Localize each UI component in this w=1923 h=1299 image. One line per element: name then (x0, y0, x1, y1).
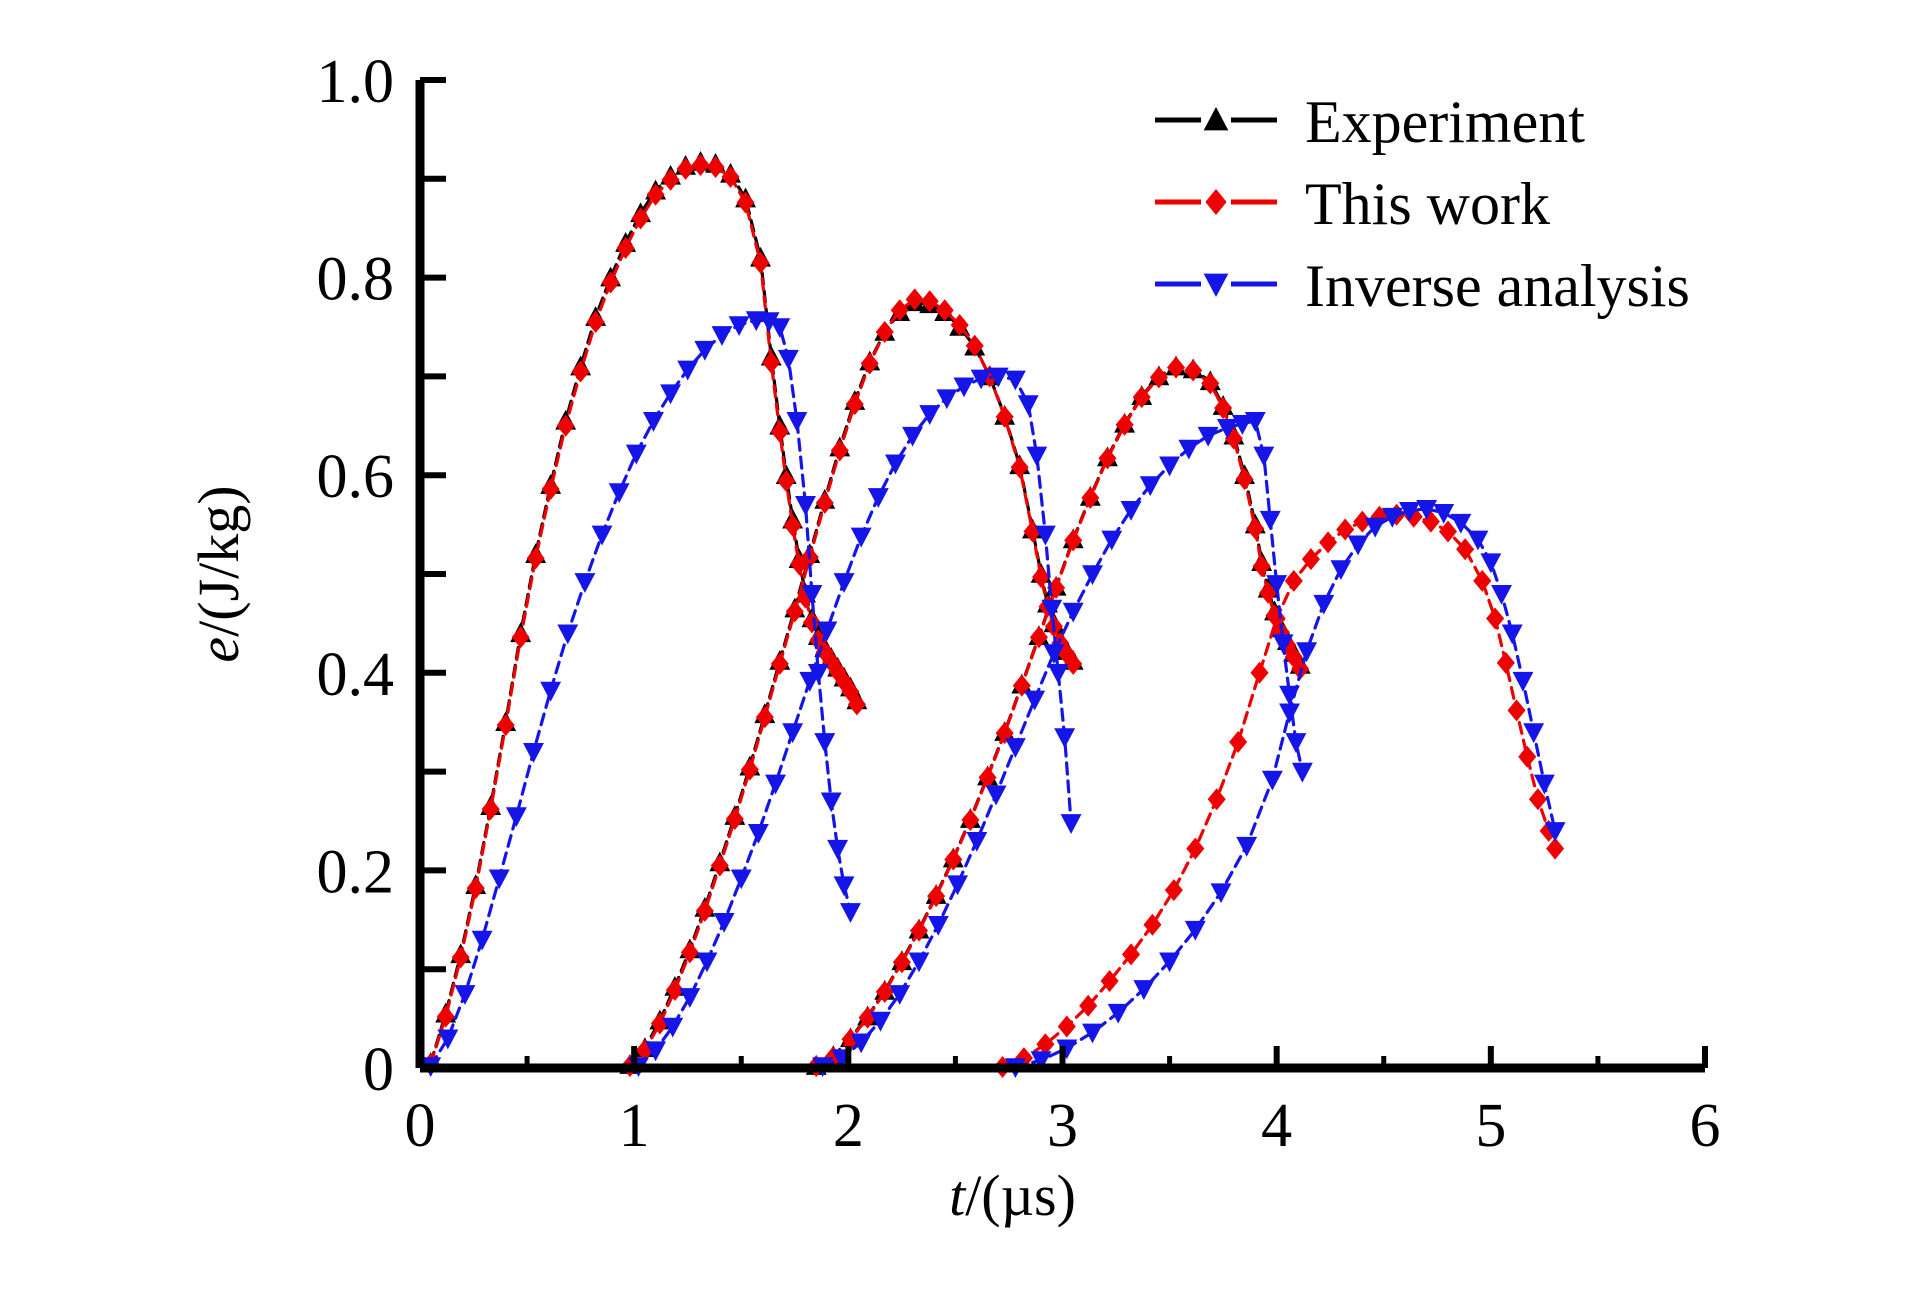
x-tick-label: 4 (1261, 1092, 1292, 1160)
chart-canvas: 012345600.20.40.60.81.0 ExperimentThis w… (0, 0, 1923, 1299)
y-tick-label: 0 (363, 1036, 394, 1104)
y-tick-label: 0.2 (317, 838, 395, 906)
x-tick-label: 0 (405, 1092, 436, 1160)
legend-label: Experiment (1305, 89, 1585, 155)
x-axis-title: t/(µs) (949, 1163, 1076, 1228)
x-tick-label: 3 (1047, 1092, 1078, 1160)
y-tick-label: 1.0 (317, 48, 395, 116)
plot-background (0, 0, 1923, 1299)
legend-label: This work (1305, 171, 1550, 237)
y-tick-label: 0.8 (317, 246, 395, 314)
x-tick-label: 1 (619, 1092, 650, 1160)
y-tick-label: 0.4 (317, 641, 395, 709)
x-tick-label: 5 (1475, 1092, 1506, 1160)
y-tick-label: 0.6 (317, 443, 395, 511)
y-axis-title: e/(J/kg) (186, 485, 251, 662)
x-tick-label: 6 (1690, 1092, 1721, 1160)
figure-container: 012345600.20.40.60.81.0 ExperimentThis w… (0, 0, 1923, 1299)
legend-label: Inverse analysis (1305, 253, 1690, 319)
x-tick-label: 2 (833, 1092, 864, 1160)
